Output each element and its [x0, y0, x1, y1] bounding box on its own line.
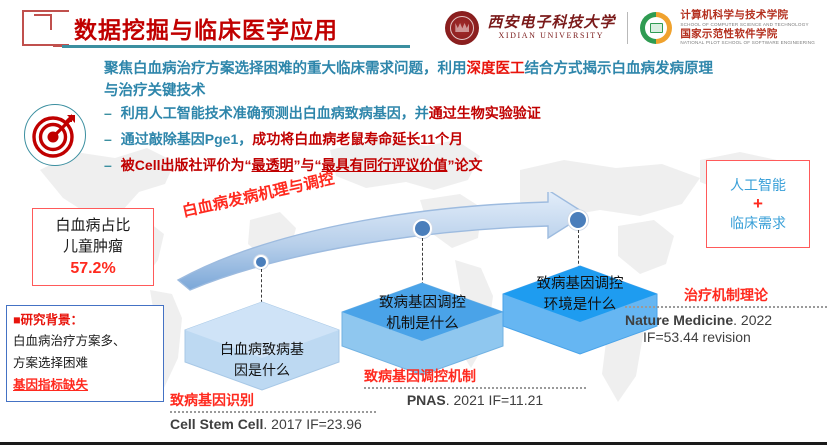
hexagon-label-1: 白血病致病基 因是什么 [183, 340, 341, 382]
ai-demand-box: 人工智能 + 临床需求 [706, 160, 810, 248]
university-name-cn: 西安电子科技大学 [487, 16, 615, 32]
school-name-en-1: SCHOOL OF COMPUTER SCIENCE AND TECHNOLOG… [680, 23, 815, 28]
bullet-dash: – [104, 129, 112, 149]
school-name-en-2: NATIONAL PILOT SCHOOL OF SOFTWARE ENGINE… [680, 41, 815, 46]
caption-1-journal-detail: . 2017 IF=23.96 [263, 416, 361, 432]
university-name-en: XIDIAN UNIVERSITY [499, 31, 605, 40]
caption-2-journal-name: PNAS [407, 392, 446, 408]
list-item: – 利用人工智能技术准确预测出白血病致病基因，并通过生物实验验证 [104, 103, 744, 123]
stat-value: 57.2% [70, 258, 115, 279]
title-underline [62, 45, 410, 48]
bullet-dash: – [104, 103, 112, 123]
ai-box-line-2: 临床需求 [730, 213, 786, 233]
stat-line-1: 白血病占比 [55, 216, 130, 237]
hexagon-label-1-line-2: 因是什么 [183, 361, 341, 382]
ai-box-plus-icon: + [753, 197, 763, 211]
bullet-text-seg1: 利用人工智能技术准确预测出白血病致病基因，并 [121, 105, 429, 121]
target-bullseye-icon [24, 104, 86, 166]
page-title: 数据挖掘与临床医学应用 [74, 11, 338, 45]
bullet-text-seg1: 通过敲除基因Pge1， [121, 131, 252, 147]
university-wordmark: 西安电子科技大学 XIDIAN UNIVERSITY [487, 16, 615, 41]
background-box-title: ■研究背景： [13, 311, 157, 330]
caption-1-dotted-rule [170, 411, 376, 413]
caption-group-2: 致病基因调控机制 PNAS. 2021 IF=11.21 [364, 366, 586, 408]
list-item: – 通过敲除基因Pge1，成功将白血病老鼠寿命延长11个月 [104, 129, 744, 149]
logo-group: 西安电子科技大学 XIDIAN UNIVERSITY 计算机科学与技术学院 SC… [445, 8, 815, 48]
background-box-line-1: 白血病治疗方案多、 [13, 330, 157, 352]
caption-1-journal: Cell Stem Cell. 2017 IF=23.96 [170, 416, 376, 432]
lead-highlight: 深度医工 [467, 61, 525, 77]
school-wordmark: 计算机科学与技术学院 SCHOOL OF COMPUTER SCIENCE AN… [680, 10, 815, 45]
bullet-text-seg2: 通过生物实验验证 [429, 105, 541, 121]
caption-group-1: 致病基因识别 Cell Stem Cell. 2017 IF=23.96 [170, 390, 376, 432]
arrow-dot-2 [413, 219, 432, 238]
university-seal-icon [445, 11, 479, 45]
caption-3-journal-line-2: IF=53.44 revision [625, 329, 827, 345]
caption-1-journal-name: Cell Stem Cell [170, 416, 263, 432]
school-name-cn-1: 计算机科学与技术学院 [680, 10, 815, 22]
stat-box: 白血病占比 儿童肿瘤 57.2% [32, 208, 154, 286]
bullet-text: 通过敲除基因Pge1，成功将白血病老鼠寿命延长11个月 [121, 129, 463, 149]
bullet-text-seg2: 成功将白血病老鼠寿命延长11个月 [252, 131, 463, 147]
hexagon-label-2-line-1: 致病基因调控 [340, 293, 505, 314]
hexagon-label-3-line-2: 环境是什么 [501, 295, 659, 316]
hexagon-label-3-line-1: 致病基因调控 [501, 274, 659, 295]
arrow-dot-1 [254, 255, 268, 269]
hexagon-card-2[interactable]: 致病基因调控 机制是什么 [340, 281, 505, 377]
logo-divider [627, 12, 628, 44]
caption-2-journal: PNAS. 2021 IF=11.21 [364, 392, 586, 408]
bullet-text: 利用人工智能技术准确预测出白血病致病基因，并通过生物实验验证 [121, 103, 541, 123]
ai-box-line-1: 人工智能 [730, 175, 786, 195]
computer-school-emblem-icon [640, 12, 672, 44]
bullet-list: – 利用人工智能技术准确预测出白血病致病基因，并通过生物实验验证 – 通过敲除基… [104, 103, 744, 181]
background-box-line-3: 基因指标缺失 [13, 374, 157, 396]
stat-line-2: 儿童肿瘤 [63, 237, 123, 258]
arrow-dot-3 [568, 210, 588, 230]
research-background-box: ■研究背景： 白血病治疗方案多、 方案选择困难 基因指标缺失 [6, 305, 164, 402]
hexagon-label-2-line-2: 机制是什么 [340, 314, 505, 335]
caption-2-journal-detail: . 2021 IF=11.21 [446, 392, 543, 408]
bracket-inner-icon [34, 14, 52, 30]
lead-segment-1: 聚焦白血病治疗方案选择困难的重大临床需求问题，利用 [104, 61, 467, 77]
hexagon-label-1-line-1: 白血病致病基 [183, 340, 341, 361]
lead-paragraph: 聚焦白血病治疗方案选择困难的重大临床需求问题，利用深度医工结合方式揭示白血病发病… [104, 58, 724, 102]
caption-2-dotted-rule [364, 387, 586, 389]
caption-2-red-label: 致病基因调控机制 [364, 366, 586, 386]
school-name-cn-2: 国家示范性软件学院 [680, 29, 815, 41]
list-item: – 被Cell出版社评价为“最透明”与“最具有同行评议价值”论文 [104, 155, 744, 175]
hexagon-label-2: 致病基因调控 机制是什么 [340, 293, 505, 335]
slide-canvas: 数据挖掘与临床医学应用 西安电子科技大学 XIDIAN UNIVERSITY 计… [0, 0, 827, 445]
hexagon-label-3: 致病基因调控 环境是什么 [501, 274, 659, 316]
caption-3-journal-detail: . 2022 [733, 312, 772, 328]
hexagon-card-1[interactable]: 白血病致病基 因是什么 [183, 300, 341, 392]
caption-1-red-label: 致病基因识别 [170, 390, 376, 410]
bullet-dash: – [104, 155, 112, 175]
background-box-line-2: 方案选择困难 [13, 352, 157, 374]
